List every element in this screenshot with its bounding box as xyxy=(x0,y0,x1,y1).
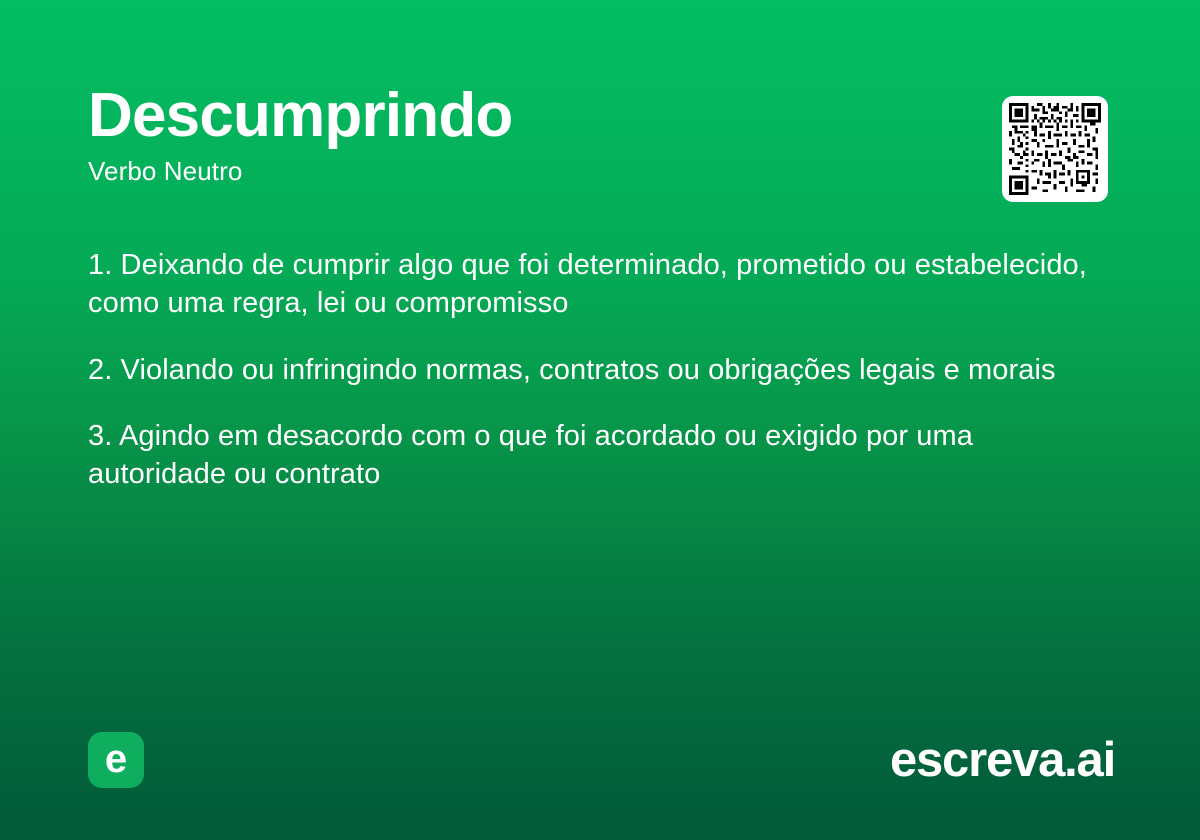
card-footer: e escreva.ai xyxy=(88,732,1115,788)
definition-item: 1. Deixando de cumprir algo que foi dete… xyxy=(88,246,1098,323)
definition-card: Descumprindo Verbo Neutro xyxy=(0,0,1200,840)
definition-item: 3. Agindo em desacordo com o que foi aco… xyxy=(88,417,1098,494)
brand-logo-icon: e xyxy=(88,732,144,788)
definition-item: 2. Violando ou infringindo normas, contr… xyxy=(88,351,1098,389)
definitions-list: 1. Deixando de cumprir algo que foi dete… xyxy=(88,246,1098,493)
brand-logo-letter: e xyxy=(105,739,127,779)
card-header: Descumprindo Verbo Neutro xyxy=(88,84,1112,186)
brand-wordmark: escreva.ai xyxy=(890,736,1115,785)
qr-code-icon xyxy=(1009,103,1101,195)
word-class-label: Verbo Neutro xyxy=(88,157,1112,186)
page-title: Descumprindo xyxy=(88,84,1112,147)
qr-code-card[interactable] xyxy=(1002,96,1108,202)
